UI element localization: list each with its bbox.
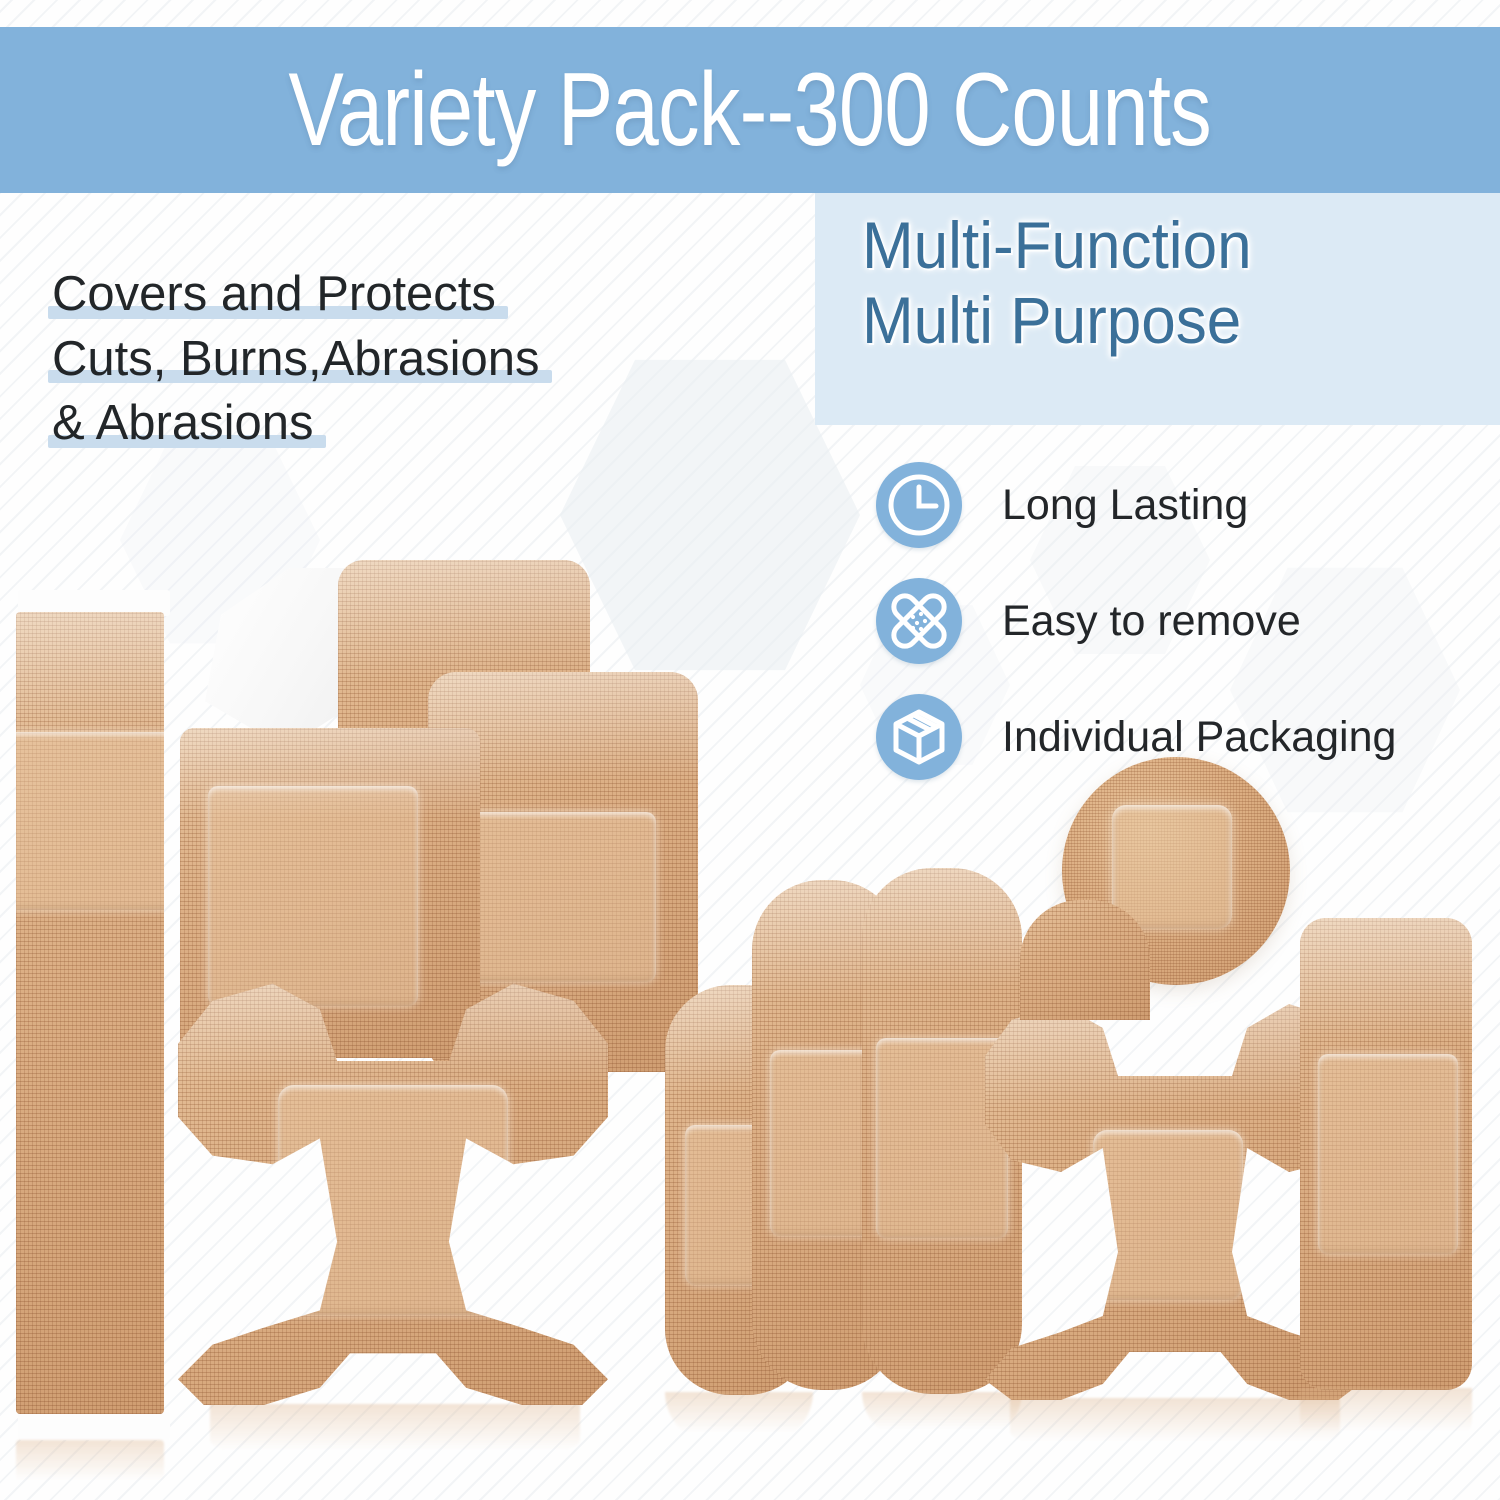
feature-label: Easy to remove [1002,600,1301,643]
bandage-pad [456,812,656,982]
reflection [1300,1388,1472,1444]
left-copy-line-3: & Abrasions [52,396,314,450]
left-copy-block: Covers and Protects Cuts, Burns,Abrasion… [52,262,752,456]
long-strip-bandage [16,612,164,1414]
feature-list: Long Lasting Easy to remove [876,447,1476,795]
left-copy-row: & Abrasions [52,391,752,456]
left-copy-row: Covers and Protects [52,262,752,327]
reflection [16,1440,164,1492]
right-heading-line-1: Multi-Function [862,208,1252,282]
left-copy-line-2: Cuts, Burns,Abrasions [52,332,540,386]
narrow-strip-bandage [1020,900,1150,1020]
bandage-wrapper-edge [18,1412,170,1440]
fabric-mesh-texture [1020,900,1150,1020]
box-icon [876,694,962,780]
page-title: Variety Pack--300 Counts [289,58,1212,162]
large-rectangular-pad-bandage [1300,918,1472,1390]
bandage-pad [208,786,418,1006]
feature-row-long-lasting: Long Lasting [876,447,1476,563]
infographic-canvas: Variety Pack--300 Counts Multi-Function … [0,0,1500,1500]
clock-icon [876,462,962,548]
right-heading: Multi-Function Multi Purpose [862,208,1464,358]
feature-row-easy-to-remove: Easy to remove [876,563,1476,679]
left-copy-row: Cuts, Burns,Abrasions [52,327,752,392]
reflection [1010,1398,1340,1454]
header-banner: Variety Pack--300 Counts [0,27,1500,193]
reflection [210,1404,580,1464]
reflection [862,1392,1022,1440]
feature-label: Long Lasting [1002,484,1248,527]
left-copy-line-1: Covers and Protects [52,267,496,321]
bandage-pad [1093,1130,1243,1300]
bandage-pad [16,732,164,910]
bandage-pad [1318,1054,1458,1254]
crossed-bandages-icon [876,578,962,664]
right-heading-line-2: Multi Purpose [862,283,1464,358]
feature-label: Individual Packaging [1002,716,1396,759]
